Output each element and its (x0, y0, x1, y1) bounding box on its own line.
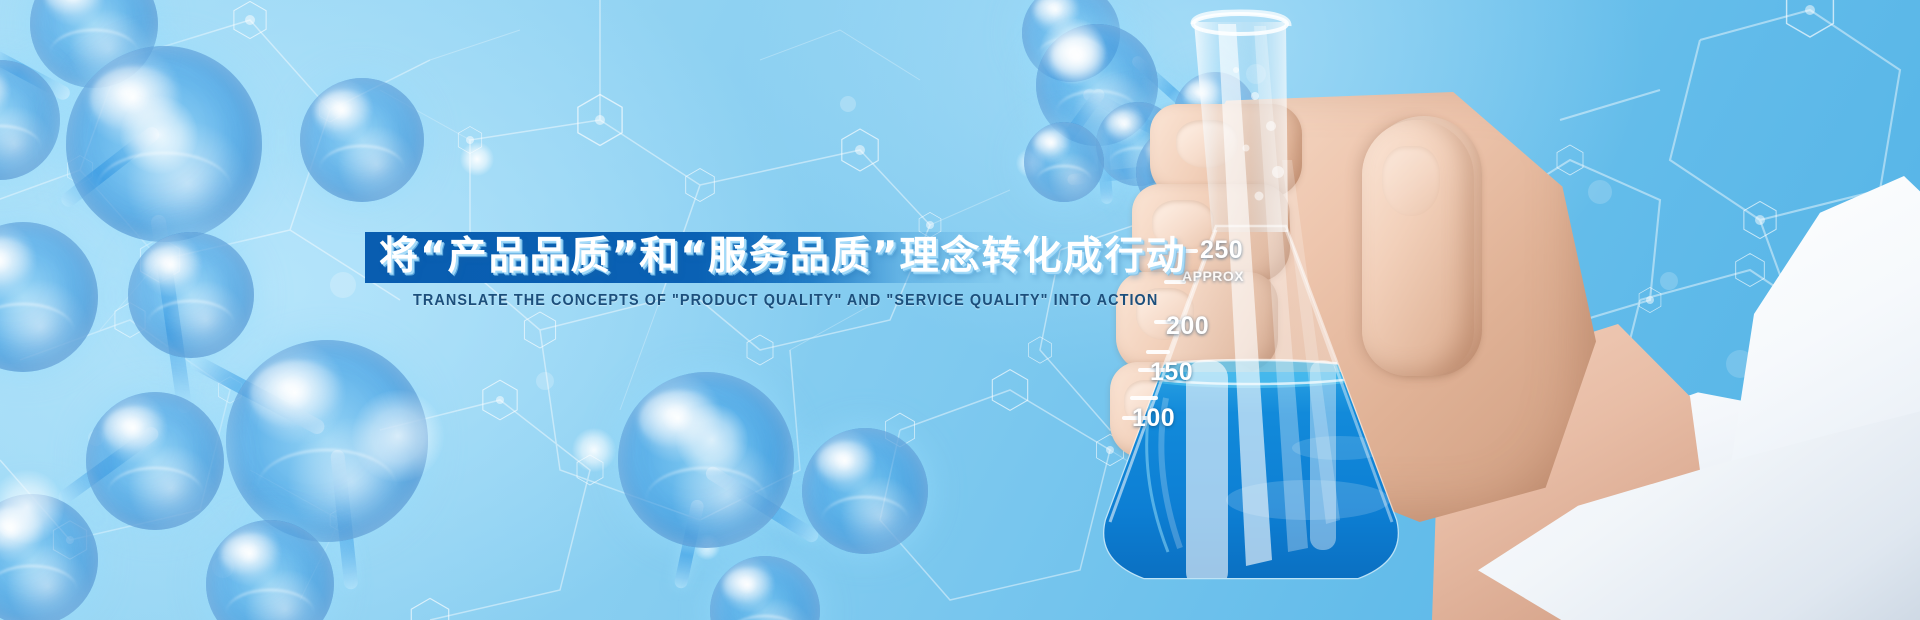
sphere-highlight (676, 404, 748, 476)
molecule-sphere (802, 428, 928, 554)
flask-graduation-250: 250 (1200, 236, 1243, 265)
molecule-sphere (128, 232, 254, 358)
molecule-sphere (86, 392, 224, 530)
promotional-banner: 250 APPROX 200 150 100 将“产品品质”和“服务品质”理念转… (0, 0, 1920, 620)
sphere-highlight (120, 96, 198, 174)
molecule-sphere (0, 222, 98, 372)
flask-graduation-100: 100 (1132, 404, 1175, 433)
headline-title: 将“产品品质”和“服务品质”理念转化成行动 (379, 228, 1187, 286)
molecule-sphere (710, 556, 820, 620)
molecule-sphere (300, 78, 424, 202)
flask-graduation-approx: APPROX (1182, 268, 1244, 284)
flask-graduation-150: 150 (1150, 358, 1193, 387)
hand-holding-flask-photo: 250 APPROX 200 150 100 (1040, 0, 1920, 620)
headline-subtitle: TRANSLATE THE CONCEPTS OF "PRODUCT QUALI… (413, 292, 1158, 310)
thumb-nail (1382, 146, 1440, 216)
sphere-highlight (352, 390, 444, 482)
flask-graduation-200: 200 (1166, 312, 1209, 341)
